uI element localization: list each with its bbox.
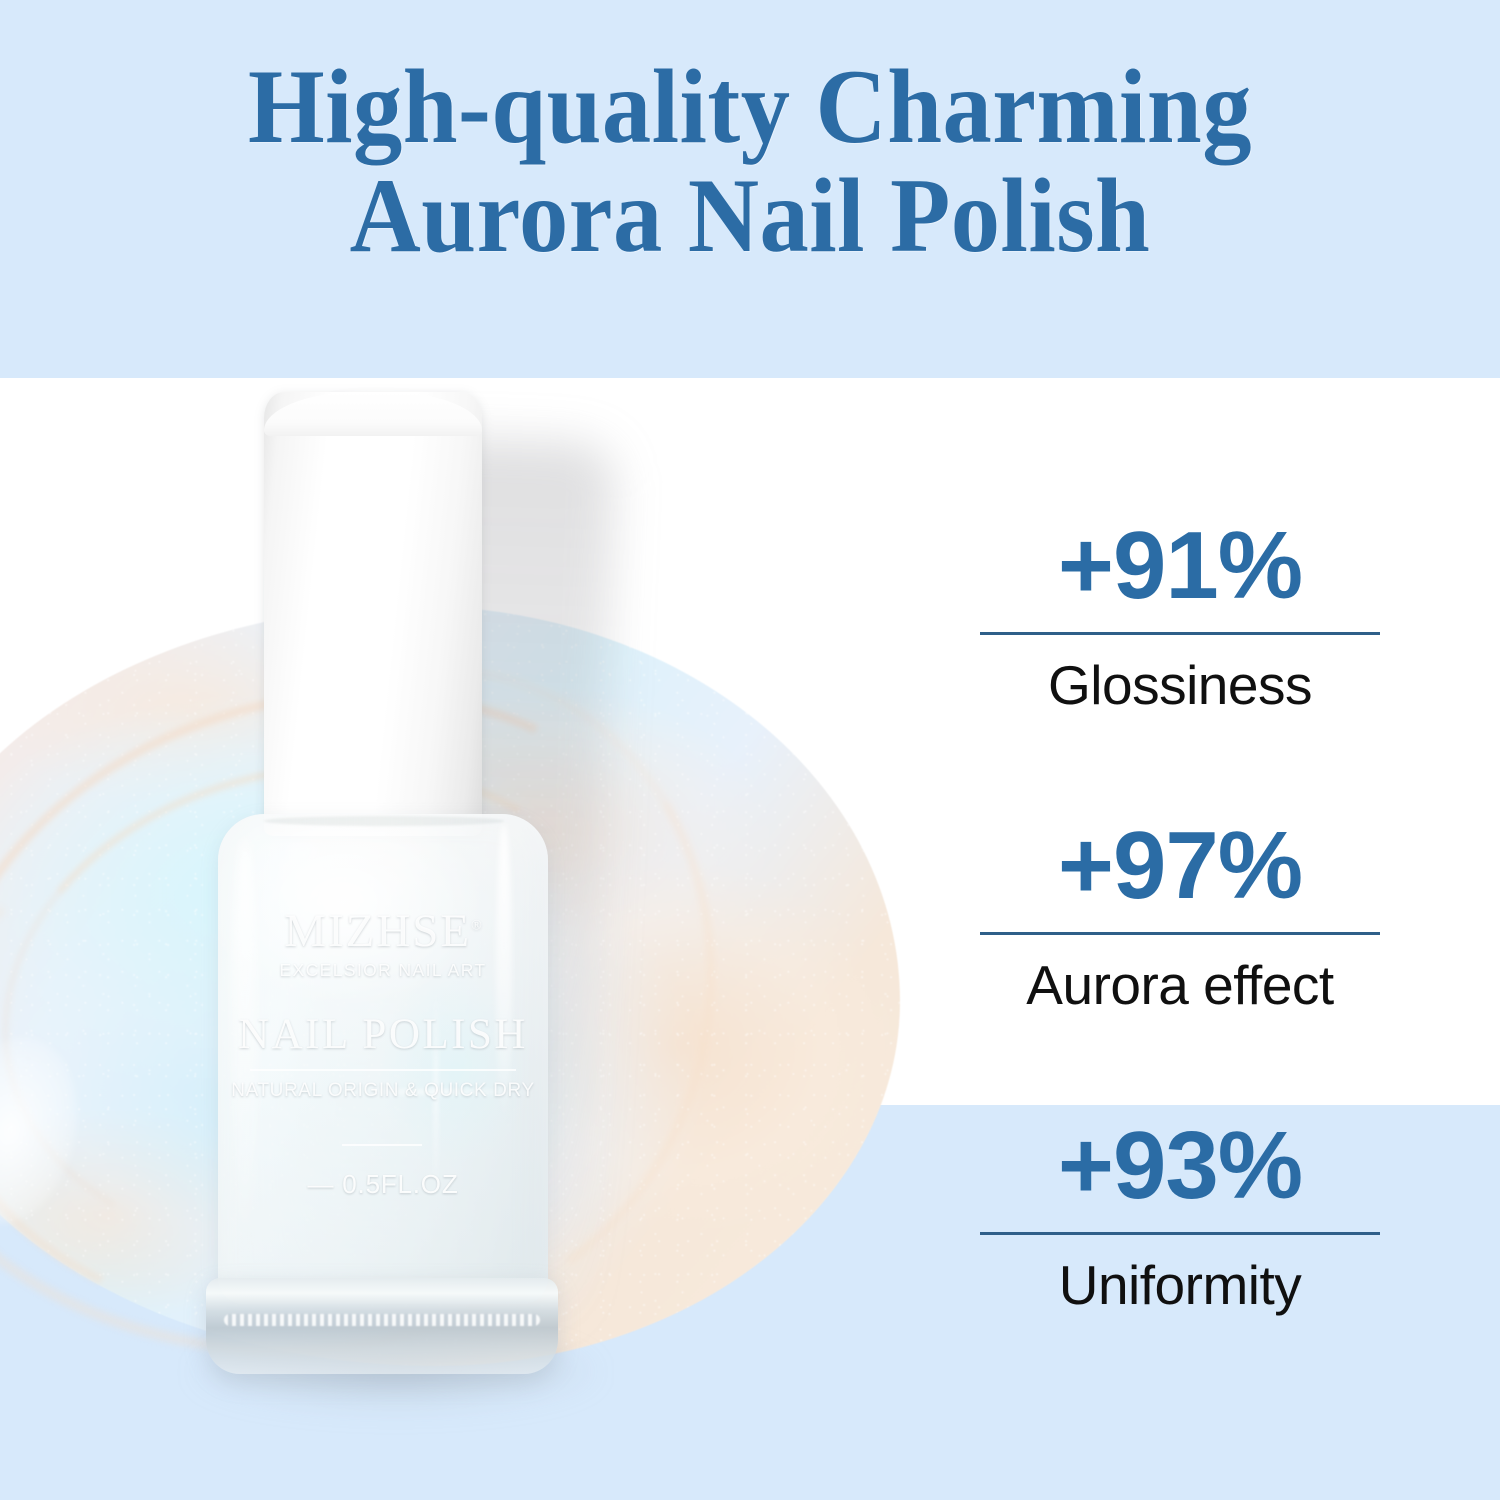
stat-label: Glossiness bbox=[960, 657, 1400, 715]
stat-value: +97% bbox=[960, 818, 1400, 914]
stat-value: +93% bbox=[960, 1118, 1400, 1214]
product-infographic: High-quality Charming Aurora Nail Polish bbox=[0, 0, 1500, 1500]
stat-label: Aurora effect bbox=[960, 957, 1400, 1015]
bottle-cap bbox=[264, 392, 482, 836]
bottle-starburst-glint bbox=[336, 992, 536, 1192]
stat-divider-rule bbox=[980, 1232, 1380, 1235]
stat-item-aurora-effect: +97% Aurora effect bbox=[960, 818, 1400, 1015]
stat-item-glossiness: +91% Glossiness bbox=[960, 518, 1400, 715]
headline-line-2: Aurora Nail Polish bbox=[53, 161, 1448, 270]
page-title: High-quality Charming Aurora Nail Polish bbox=[53, 52, 1448, 270]
stat-divider-rule bbox=[980, 932, 1380, 935]
product-photo: MIZHSE® EXCELSIOR NAIL ART NAIL POLISH N… bbox=[0, 378, 940, 1500]
bottle-highlight-left bbox=[232, 838, 258, 1258]
bottle-neck-ring bbox=[264, 816, 504, 826]
stat-value: +91% bbox=[960, 518, 1400, 614]
bottle-base bbox=[206, 1278, 558, 1374]
bottle-base-ridge bbox=[224, 1314, 540, 1326]
stat-item-uniformity: +93% Uniformity bbox=[960, 1118, 1400, 1315]
stat-divider-rule bbox=[980, 632, 1380, 635]
stat-label: Uniformity bbox=[960, 1257, 1400, 1315]
bottle-cap-top bbox=[264, 392, 482, 436]
headline-line-1: High-quality Charming bbox=[53, 52, 1448, 161]
bottle-body bbox=[218, 814, 548, 1304]
